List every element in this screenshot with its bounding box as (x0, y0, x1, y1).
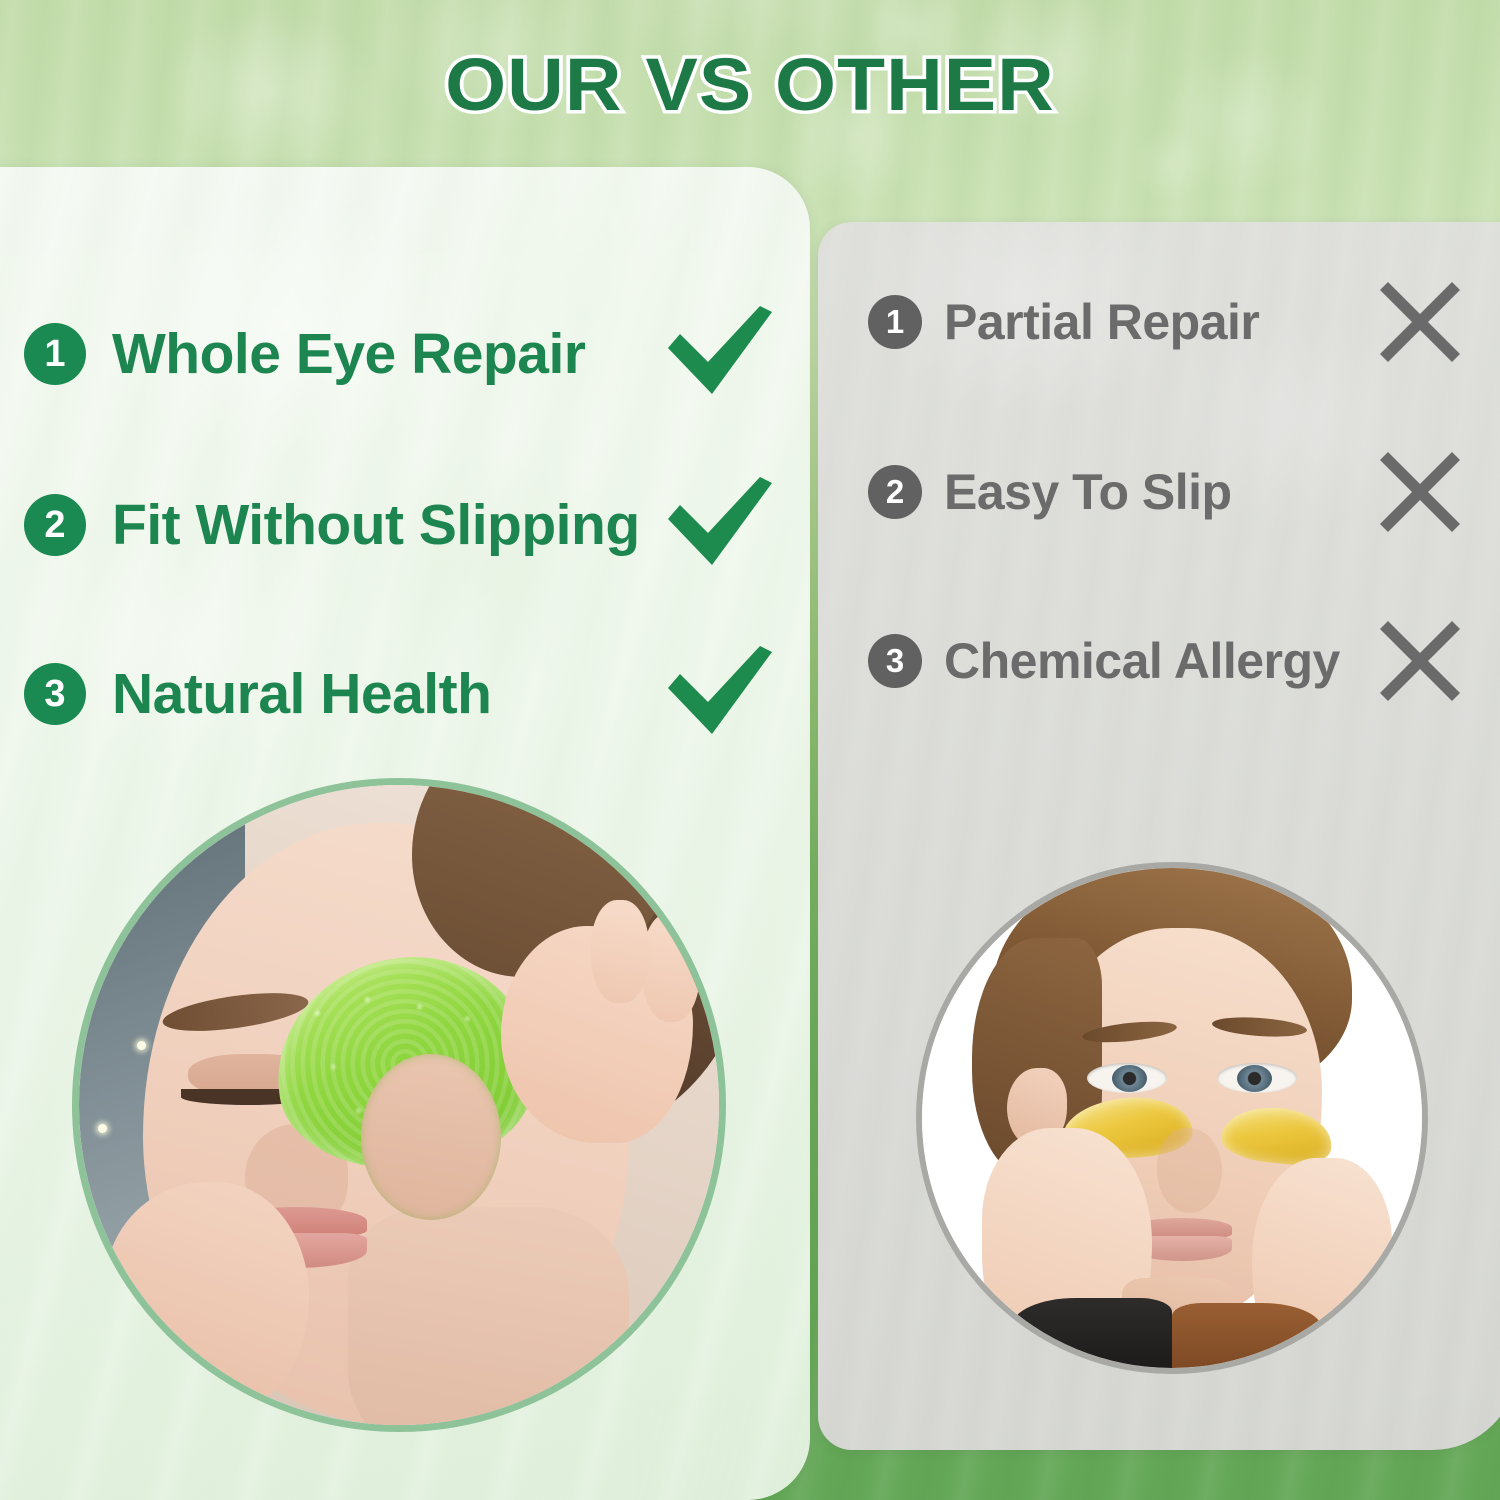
other-item-1-number-badge: 1 (868, 295, 922, 349)
cross-icon (1374, 615, 1466, 707)
our-product-photo (72, 778, 726, 1432)
our-feature-row-3: 3 Natural Health (24, 663, 764, 725)
gel-mask-opening (361, 1054, 502, 1220)
infographic-canvas: OUR VS OTHER 1 Whole Eye Repair 2 Fit Wi… (0, 0, 1500, 1500)
our-photo-scene (79, 785, 719, 1425)
other-item-1-label: Partial Repair (944, 297, 1259, 347)
other-photo-scene (922, 868, 1422, 1368)
other-photo-image (922, 868, 1422, 1368)
other-photo-shoulder (1012, 1298, 1172, 1368)
our-item-2-number-badge: 2 (24, 494, 86, 556)
other-feature-row-1: 1 Partial Repair (868, 295, 1468, 349)
other-item-3-number-badge: 3 (868, 634, 922, 688)
other-photo-iris (1237, 1065, 1272, 1092)
other-item-3-label: Chemical Allergy (944, 636, 1340, 686)
sparkle-icon (137, 1041, 146, 1050)
our-item-3-label: Natural Health (112, 666, 491, 723)
check-icon (664, 477, 774, 573)
our-photo-neck (348, 1207, 630, 1425)
cross-icon (1374, 446, 1466, 538)
our-feature-row-1: 1 Whole Eye Repair (24, 323, 764, 385)
our-photo-finger (642, 913, 700, 1022)
other-photo-nose (1157, 1128, 1222, 1213)
our-item-3-number-badge: 3 (24, 663, 86, 725)
our-photo-image (79, 785, 719, 1425)
check-icon (664, 646, 774, 742)
our-photo-finger (591, 900, 649, 1002)
other-item-2-label: Easy To Slip (944, 467, 1232, 517)
other-feature-row-3: 3 Chemical Allergy (868, 634, 1468, 688)
check-icon (664, 306, 774, 402)
our-item-1-number-badge: 1 (24, 323, 86, 385)
cross-icon (1374, 276, 1466, 368)
other-feature-row-2: 2 Easy To Slip (868, 465, 1468, 519)
other-photo-iris (1112, 1065, 1147, 1092)
our-item-2-label: Fit Without Slipping (112, 497, 640, 554)
other-product-photo (916, 862, 1428, 1374)
our-item-1-label: Whole Eye Repair (112, 326, 585, 383)
other-item-2-number-badge: 2 (868, 465, 922, 519)
page-title: OUR VS OTHER (0, 48, 1500, 122)
other-photo-collar (1172, 1303, 1322, 1368)
our-feature-row-2: 2 Fit Without Slipping (24, 494, 764, 556)
